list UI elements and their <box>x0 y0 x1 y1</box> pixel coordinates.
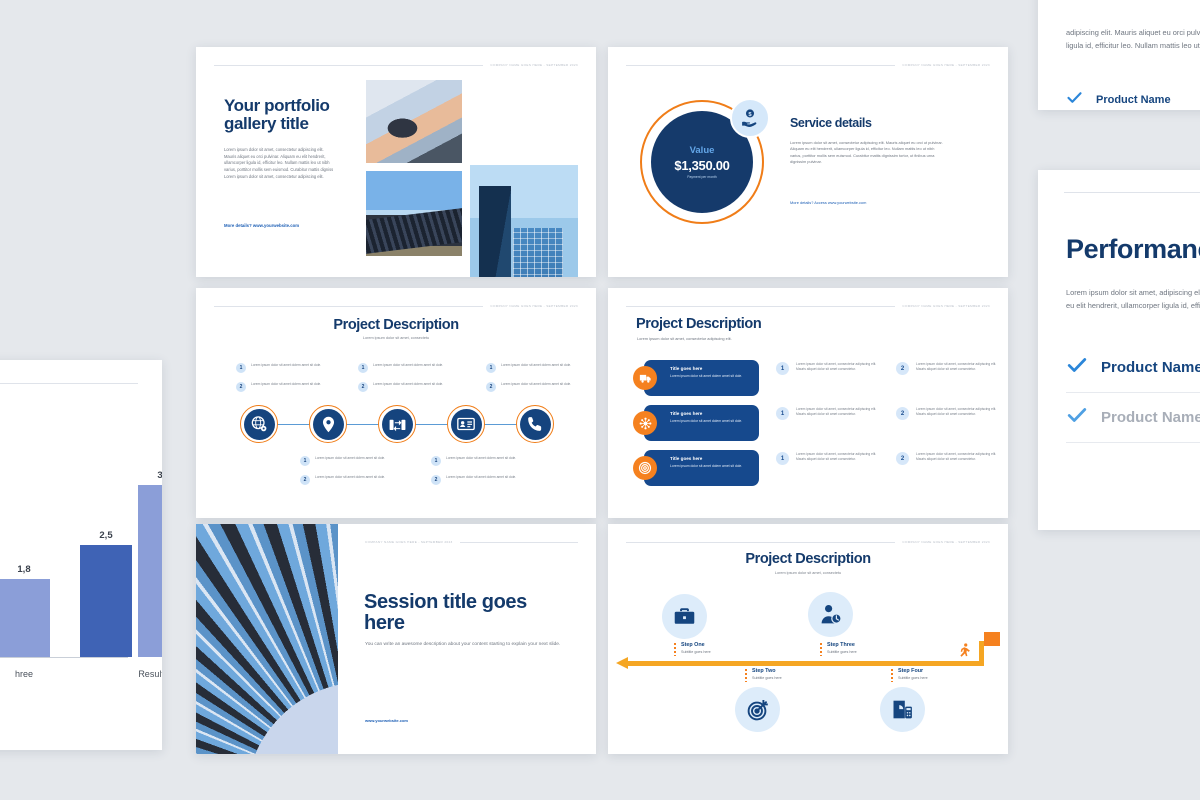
photo-handshake-phone <box>366 80 462 163</box>
feature-card[interactable]: Title goes here Lorem ipsum dolor sit am… <box>644 360 759 396</box>
bar-value-3: 3,9 <box>138 470 162 481</box>
card-title: Title goes here <box>670 411 751 416</box>
page-subtitle: Lorem ipsum dolor sit amet, consectetu <box>608 571 1008 575</box>
item-text: Lorem ipsum dolor sit amet dolem amet si… <box>251 363 321 368</box>
step-subtitle: Subtitle goes here <box>681 650 711 654</box>
step-name: Step Two <box>752 668 782 674</box>
step-label-two: Step Two Subtitle goes here <box>745 668 782 680</box>
timeline-node-phone[interactable] <box>516 405 554 443</box>
item-number: 1 <box>236 363 246 373</box>
value-amount: $1,350.00 <box>674 158 729 173</box>
header-rule <box>626 65 895 66</box>
step-icon-two <box>735 687 780 732</box>
list-item: 2 Lorem ipsum dolor sit amet, consectetu… <box>896 407 1006 420</box>
list-item: 1 Lorem ipsum dolor sit amet, consectetu… <box>776 407 886 420</box>
network-nodes-icon <box>633 411 657 435</box>
list-item: 1 Lorem ipsum dolor sit amet dolem amet … <box>486 363 578 373</box>
list-item: 1 Lorem ipsum dolor sit amet dolem amet … <box>236 363 328 373</box>
card-body: Lorem ipsum dolor sit amet dolem amet si… <box>670 374 751 379</box>
page-title: Project Description <box>608 552 1008 568</box>
card-title: Title goes here <box>670 366 751 371</box>
item-text: Lorem ipsum dolor sit amet, consectetur … <box>916 452 1006 462</box>
item-number: 2 <box>896 407 909 420</box>
item-number: 2 <box>236 382 246 392</box>
slide-session-title[interactable]: COMPANY NAME GOES HERE - SEPTEMBER 2023 … <box>196 524 596 754</box>
page-title: Project Description <box>636 317 761 333</box>
feature-card[interactable]: Title goes here Lorem ipsum dolor sit am… <box>644 450 759 486</box>
photo-city-skyscrapers <box>470 165 578 277</box>
step-subtitle: Subtitle goes here <box>827 650 857 654</box>
step-name: Step Four <box>898 668 928 674</box>
delivery-truck-icon <box>633 366 657 390</box>
list-item: 1 Lorem ipsum dolor sit amet dolem amet … <box>300 456 392 466</box>
photo-solar-panels <box>366 171 462 256</box>
step-icon-one <box>662 594 707 639</box>
item-number: 1 <box>776 407 789 420</box>
item-number: 1 <box>431 456 441 466</box>
product-name: Product Name <box>1101 409 1200 426</box>
item-number: 2 <box>300 475 310 485</box>
icon-node-row <box>240 405 552 443</box>
item-text: Lorem ipsum dolor sit amet dolem amet si… <box>501 363 571 368</box>
slide-project-icon-timeline[interactable]: COMPANY NAME GOES HERE - SEPTEMBER 2023 … <box>196 288 596 518</box>
bar-chart: 1,8 hree 2,5 3,9 Result Three <box>0 468 128 658</box>
list-item: 1 Lorem ipsum dolor sit amet, consectetu… <box>776 452 886 465</box>
list-item: 1 Lorem ipsum dolor sit amet dolem amet … <box>431 456 523 466</box>
value-caption: Payment per month <box>687 175 717 179</box>
slide-header: COMPANY NAME GOES HERE - SEPTEMBER 2023 <box>214 304 578 308</box>
timeline-node-transfer[interactable] <box>378 405 416 443</box>
portfolio-body-text: Lorem ipsum dolor sit amet, consectetur … <box>224 147 336 180</box>
card-body: Lorem ipsum dolor sit amet dolem amet si… <box>670 464 751 469</box>
step-name: Step Three <box>827 642 857 648</box>
bar-1: 1,8 hree <box>0 579 50 657</box>
header-rule <box>460 542 578 543</box>
service-more-link[interactable]: More details? Access www.yourwebsite.com <box>790 200 866 205</box>
header-rule <box>0 383 138 384</box>
step-icon-three <box>808 592 853 637</box>
photo-curved-architecture <box>196 524 338 754</box>
service-body-text: Lorem ipsum dolor sit amet, consectetur … <box>790 140 945 165</box>
list-item: 2 Lorem ipsum dolor sit amet dolem amet … <box>300 475 392 485</box>
bar-value-2: 2,5 <box>80 530 132 541</box>
item-text: Lorem ipsum dolor sit amet, consectetur … <box>796 452 886 462</box>
id-card-icon <box>451 409 482 440</box>
slide-product-list-partial[interactable]: adipiscing elit. Mauris aliquet eu orci … <box>1038 0 1200 110</box>
item-text: Lorem ipsum dolor sit amet dolem amet si… <box>446 456 516 461</box>
slide-header: COMPANY NAME GOES HERE - SEPTEMBER 2023 <box>0 380 138 386</box>
header-rule <box>1064 192 1200 193</box>
item-text: Lorem ipsum dolor sit amet dolem amet si… <box>501 382 571 387</box>
item-number: 1 <box>776 452 789 465</box>
slide-header <box>1064 192 1200 193</box>
list-item: 1 Lorem ipsum dolor sit amet dolem amet … <box>358 363 450 373</box>
slide-project-cards[interactable]: COMPANY NAME GOES HERE - SEPTEMBER 2023 … <box>608 288 1008 518</box>
check-icon <box>1066 354 1088 381</box>
running-header-label: COMPANY NAME GOES HERE - SEPTEMBER 2023 <box>490 63 578 67</box>
page-title: Project Description <box>196 318 596 334</box>
slide-header: COMPANY NAME GOES HERE - SEPTEMBER 2023 <box>365 540 578 544</box>
slide-header: COMPANY NAME GOES HERE - SEPTEMBER 2023 <box>626 63 990 67</box>
running-header-label: COMPANY NAME GOES HERE - SEPTEMBER 2023 <box>490 304 578 308</box>
step-label-three: Step Three Subtitle goes here <box>820 642 857 654</box>
slide-service-details[interactable]: COMPANY NAME GOES HERE - SEPTEMBER 2023 … <box>608 47 1008 277</box>
card-body: Lorem ipsum dolor sit amet dolem amet si… <box>670 419 751 424</box>
page-title: Performance Review <box>1066 234 1200 264</box>
slide-header: COMPANY NAME GOES HERE - SEPTEMBER 2023 <box>626 540 990 544</box>
partial-paragraph: Lorem ipsum dolor sit amet, adipiscing e… <box>1066 286 1200 312</box>
hand-holding-coin-icon: $ <box>730 98 770 138</box>
list-item: 1 Lorem ipsum dolor sit amet, consectetu… <box>776 362 886 375</box>
product-name: Product Name <box>1096 94 1171 106</box>
slide-steps-timeline[interactable]: COMPANY NAME GOES HERE - SEPTEMBER 2023 … <box>608 524 1008 754</box>
item-text: Lorem ipsum dolor sit amet dolem amet si… <box>373 363 443 368</box>
list-item: 2 Lorem ipsum dolor sit amet dolem amet … <box>431 475 523 485</box>
session-url-link[interactable]: www.yourwebsite.com <box>365 718 408 723</box>
service-title: Service details <box>790 117 872 130</box>
item-number: 2 <box>431 475 441 485</box>
item-number: 1 <box>486 363 496 373</box>
flag-icon <box>984 632 1000 646</box>
page-title: Session title goes here <box>364 592 564 635</box>
globe-gears-icon <box>244 409 275 440</box>
item-number: 1 <box>300 456 310 466</box>
item-text: Lorem ipsum dolor sit amet dolem amet si… <box>315 456 385 461</box>
header-rule <box>626 306 895 307</box>
running-header-label: COMPANY NAME GOES HERE - SEPTEMBER 2023 <box>902 540 990 544</box>
header-rule <box>214 65 483 66</box>
list-item: 2 Lorem ipsum dolor sit amet, consectetu… <box>896 452 1006 465</box>
item-number: 2 <box>896 452 909 465</box>
slide-header: COMPANY NAME GOES HERE - SEPTEMBER 2023 <box>214 63 578 67</box>
runner-icon <box>956 642 972 664</box>
step-subtitle: Subtitle goes here <box>898 676 928 680</box>
header-rule <box>626 542 895 543</box>
item-text: Lorem ipsum dolor sit amet, consectetur … <box>796 362 886 372</box>
template-showcase-canvas: COMPANY NAME GOES HERE - SEPTEMBER 2023 … <box>0 0 1200 800</box>
item-number: 2 <box>896 362 909 375</box>
item-text: Lorem ipsum dolor sit amet, consectetur … <box>916 407 1006 417</box>
item-text: Lorem ipsum dolor sit amet dolem amet si… <box>251 382 321 387</box>
portfolio-more-link[interactable]: More details? www.yourwebsite.com <box>224 223 299 228</box>
slide-portfolio-gallery[interactable]: COMPANY NAME GOES HERE - SEPTEMBER 2023 … <box>196 47 596 277</box>
step-subtitle: Subtitle goes here <box>752 676 782 680</box>
card-title: Title goes here <box>670 456 751 461</box>
bar-category-1: hree <box>0 669 50 679</box>
item-number: 2 <box>358 382 368 392</box>
timeline-node-location[interactable] <box>309 405 347 443</box>
check-icon <box>1066 89 1083 110</box>
list-item: 2 Lorem ipsum dolor sit amet dolem amet … <box>486 382 578 392</box>
step-label-one: Step One Subtitle goes here <box>674 642 711 654</box>
header-rule <box>214 306 483 307</box>
page-title: Your portfolio gallery title <box>224 97 374 133</box>
running-header-label: COMPANY NAME GOES HERE - SEPTEMBER 2023 <box>902 304 990 308</box>
chart-baseline <box>0 657 128 658</box>
item-text: Lorem ipsum dolor sit amet, consectetur … <box>796 407 886 417</box>
target-icon <box>633 456 657 480</box>
running-header-label: COMPANY NAME GOES HERE - SEPTEMBER 2023 <box>365 540 453 544</box>
location-pin-icon <box>313 409 344 440</box>
step-name: Step One <box>681 642 711 648</box>
timeline-track <box>628 661 984 666</box>
step-label-four: Step Four Subtitle goes here <box>891 668 928 680</box>
feature-card[interactable]: Title goes here Lorem ipsum dolor sit am… <box>644 405 759 441</box>
item-number: 1 <box>776 362 789 375</box>
phone-icon <box>520 409 551 440</box>
bar-3: 3,9 Result Three <box>138 485 162 657</box>
check-icon <box>1066 404 1088 431</box>
slide-bar-chart-partial[interactable]: COMPANY NAME GOES HERE - SEPTEMBER 2023 … <box>0 360 162 750</box>
value-donut: Value $1,350.00 Payment per month $ <box>640 100 764 224</box>
running-header-label: COMPANY NAME GOES HERE - SEPTEMBER 2023 <box>902 63 990 67</box>
timeline-node-id-card[interactable] <box>447 405 485 443</box>
product-row[interactable]: Product Name <box>1066 343 1200 392</box>
item-text: Lorem ipsum dolor sit amet, consectetur … <box>916 362 1006 372</box>
photo-gallery <box>366 80 578 256</box>
item-text: Lorem ipsum dolor sit amet dolem amet si… <box>373 382 443 387</box>
item-text: Lorem ipsum dolor sit amet dolem amet si… <box>446 475 516 480</box>
bar-category-3: Result Three <box>110 669 162 679</box>
list-item: 2 Lorem ipsum dolor sit amet dolem amet … <box>358 382 450 392</box>
partial-paragraph: adipiscing elit. Mauris aliquet eu orci … <box>1066 26 1200 52</box>
timeline-node-globe[interactable] <box>240 405 278 443</box>
page-subtitle: Lorem ipsum dolor sit amet, consectetu <box>196 336 596 340</box>
page-subtitle: Lorem ipsum dolor sit amet, consectetur … <box>637 336 732 341</box>
product-name: Product Name <box>1101 359 1200 376</box>
list-item: 2 Lorem ipsum dolor sit amet dolem amet … <box>236 382 328 392</box>
list-item: 2 Lorem ipsum dolor sit amet, consectetu… <box>896 362 1006 375</box>
product-row[interactable]: Product Name <box>1066 78 1200 110</box>
bar-2: 2,5 <box>80 545 132 657</box>
slide-header: COMPANY NAME GOES HERE - SEPTEMBER 2023 <box>626 304 990 308</box>
value-label: Value <box>690 145 715 156</box>
item-number: 1 <box>358 363 368 373</box>
slide-performance-review-partial[interactable]: Performance Review Lorem ipsum dolor sit… <box>1038 170 1200 530</box>
data-transfer-icon <box>382 409 413 440</box>
product-row[interactable]: Product Name <box>1066 392 1200 442</box>
item-text: Lorem ipsum dolor sit amet dolem amet si… <box>315 475 385 480</box>
step-icon-four <box>880 687 925 732</box>
session-description: You can write an awesome description abo… <box>365 641 561 649</box>
bar-value-1: 1,8 <box>0 564 50 575</box>
item-number: 2 <box>486 382 496 392</box>
